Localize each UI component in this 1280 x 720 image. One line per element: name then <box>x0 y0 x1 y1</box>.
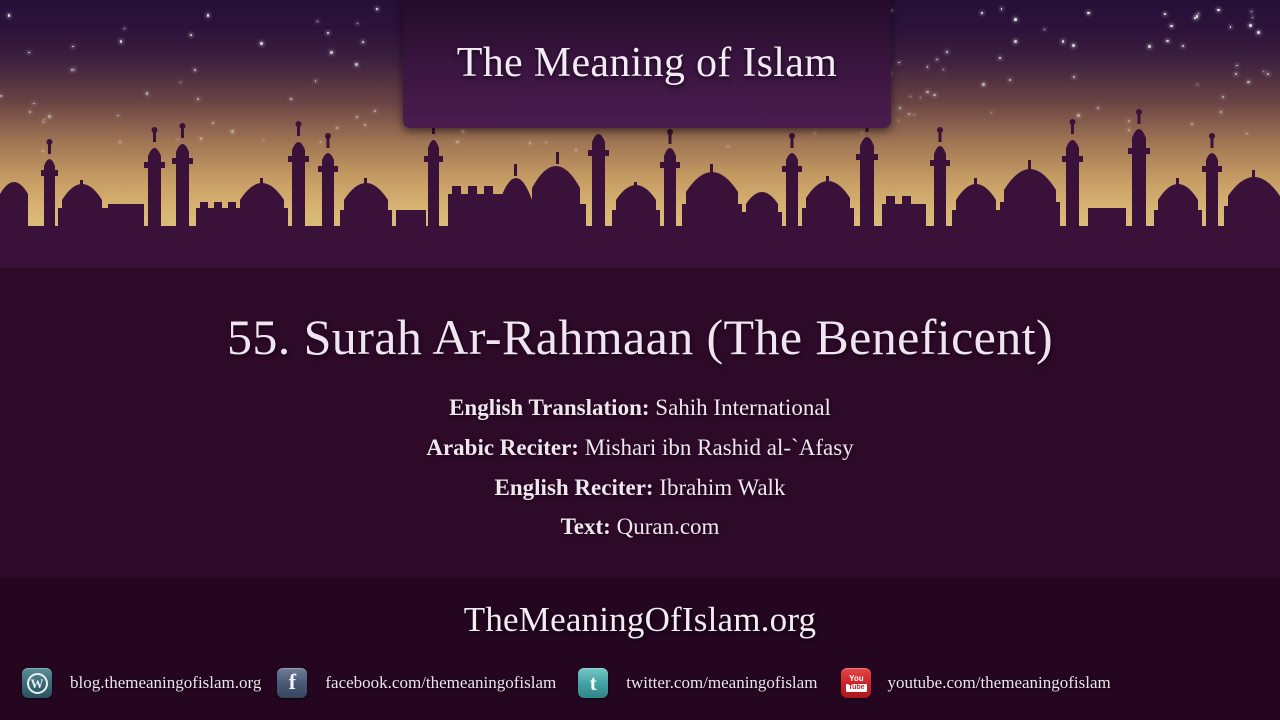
star-icon <box>1267 73 1269 75</box>
credit-line: English Reciter: Ibrahim Walk <box>0 468 1280 508</box>
star-icon <box>999 57 1000 58</box>
facebook-icon[interactable]: f <box>277 668 307 698</box>
star-icon <box>1072 44 1075 47</box>
star-icon <box>72 46 74 48</box>
credit-label: Text: <box>561 514 611 539</box>
star-icon <box>1222 96 1225 99</box>
star-icon <box>982 83 984 85</box>
credit-line: Text: Quran.com <box>0 507 1280 547</box>
star-icon <box>8 14 11 17</box>
star-icon <box>124 28 125 29</box>
credit-value: Mishari ibn Rashid al-`Afasy <box>585 435 854 460</box>
social-link-twitter[interactable]: t twitter.com/meaningofislam <box>578 668 817 698</box>
star-icon <box>926 91 928 93</box>
youtube-icon[interactable]: You Tube <box>841 668 871 698</box>
star-icon <box>330 51 333 54</box>
star-icon <box>943 69 944 70</box>
star-icon <box>1251 11 1252 12</box>
star-icon <box>1062 40 1064 42</box>
star-icon <box>1252 17 1253 18</box>
star-icon <box>28 52 30 54</box>
social-link-wordpress[interactable]: W blog.themeaningofislam.org <box>22 668 261 698</box>
star-icon <box>898 62 900 64</box>
wordpress-icon[interactable]: W <box>22 668 52 698</box>
star-icon <box>1235 73 1237 75</box>
credit-line: Arabic Reciter: Mishari ibn Rashid al-`A… <box>0 428 1280 468</box>
wordpress-glyph: W <box>27 673 48 694</box>
star-icon <box>1217 9 1219 11</box>
star-icon <box>362 41 365 44</box>
star-icon <box>1249 24 1252 27</box>
star-icon <box>1166 40 1169 43</box>
star-icon <box>120 40 123 43</box>
credit-label: English Translation: <box>449 395 649 420</box>
star-icon <box>376 8 378 10</box>
credit-line: English Translation: Sahih International <box>0 388 1280 428</box>
star-icon <box>197 98 199 100</box>
star-icon <box>1014 18 1017 21</box>
star-icon <box>1001 8 1003 10</box>
star-icon <box>946 51 948 53</box>
star-icon <box>33 103 35 105</box>
mosque-skyline-silhouette <box>0 108 1280 268</box>
star-icon <box>1263 71 1264 72</box>
star-icon <box>981 12 983 14</box>
star-icon <box>1198 13 1199 14</box>
star-icon <box>194 69 196 71</box>
star-icon <box>1197 84 1198 85</box>
star-icon <box>1009 79 1011 81</box>
channel-title: The Meaning of Islam <box>457 39 837 87</box>
youtube-glyph-bottom: Tube <box>846 684 866 692</box>
star-icon <box>190 34 192 36</box>
social-label-twitter: twitter.com/meaningofislam <box>626 673 817 693</box>
channel-title-banner: The Meaning of Islam <box>403 0 891 128</box>
star-icon <box>0 95 2 97</box>
star-icon <box>1230 26 1231 27</box>
footer-band: TheMeaningOfIslam.org W blog.themeaningo… <box>0 578 1280 720</box>
star-icon <box>71 69 73 71</box>
star-icon <box>290 98 291 99</box>
credit-label: English Reciter: <box>495 475 654 500</box>
social-link-youtube[interactable]: You Tube youtube.com/themeaningofislam <box>841 668 1110 698</box>
star-icon <box>180 82 182 84</box>
credit-value: Ibrahim Walk <box>659 475 785 500</box>
star-icon <box>1044 29 1045 30</box>
star-icon <box>1257 31 1259 33</box>
star-icon <box>146 92 148 94</box>
credit-label: Arabic Reciter: <box>426 435 579 460</box>
star-icon <box>927 66 928 67</box>
star-icon <box>74 69 76 71</box>
star-icon <box>1014 40 1016 42</box>
star-icon <box>357 23 358 24</box>
youtube-glyph-top: You <box>849 675 864 683</box>
star-icon <box>1073 76 1075 78</box>
star-icon <box>207 14 209 16</box>
star-icon <box>1148 45 1150 47</box>
star-icon <box>1196 15 1198 17</box>
star-icon <box>933 94 936 97</box>
star-icon <box>317 21 318 22</box>
star-icon <box>910 96 911 97</box>
social-links-row: W blog.themeaningofislam.org f facebook.… <box>0 660 1280 706</box>
surah-title: 55. Surah Ar-Rahmaan (The Beneficent) <box>0 308 1280 366</box>
social-label-wordpress: blog.themeaningofislam.org <box>70 673 261 693</box>
star-icon <box>260 42 262 44</box>
star-icon <box>920 97 922 99</box>
credits-list: English Translation: Sahih International… <box>0 388 1280 547</box>
star-icon <box>1236 65 1237 66</box>
star-icon <box>1247 81 1249 83</box>
social-label-facebook: facebook.com/themeaningofislam <box>325 673 556 693</box>
twitter-icon[interactable]: t <box>578 668 608 698</box>
star-icon <box>1182 45 1184 47</box>
credit-value: Sahih International <box>655 395 831 420</box>
video-title-card: The Meaning of Islam 55. Surah Ar-Rahmaa… <box>0 0 1280 720</box>
star-icon <box>327 32 329 34</box>
social-link-facebook[interactable]: f facebook.com/themeaningofislam <box>277 668 556 698</box>
star-icon <box>936 59 938 61</box>
star-icon <box>1087 12 1089 14</box>
social-label-youtube: youtube.com/themeaningofislam <box>887 673 1110 693</box>
site-url: TheMeaningOfIslam.org <box>0 600 1280 640</box>
credit-value: Quran.com <box>617 514 720 539</box>
star-icon <box>315 80 317 82</box>
star-icon <box>1164 13 1166 15</box>
main-content: 55. Surah Ar-Rahmaan (The Beneficent) En… <box>0 268 1280 578</box>
star-icon <box>355 63 357 65</box>
star-icon <box>1170 25 1172 27</box>
